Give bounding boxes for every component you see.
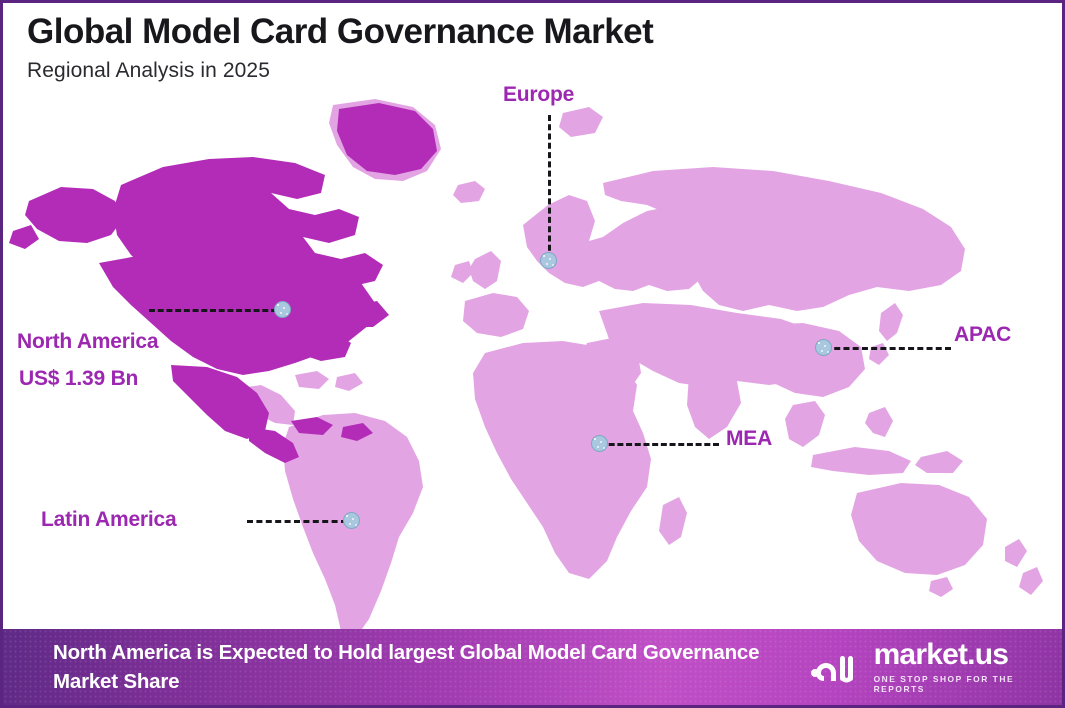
market-us-logo-icon bbox=[810, 650, 864, 684]
header: Global Model Card Governance Market Regi… bbox=[27, 11, 653, 83]
region-value-north-america: US$ 1.39 Bn bbox=[17, 367, 158, 391]
region-name-europe: Europe bbox=[503, 83, 574, 107]
map-marker-europe[interactable] bbox=[540, 252, 557, 269]
region-label-europe: Europe bbox=[503, 83, 574, 107]
map-marker-mea[interactable] bbox=[591, 435, 608, 452]
infographic-root: Global Model Card Governance Market Regi… bbox=[0, 0, 1065, 708]
brand-tagline: ONE STOP SHOP FOR THE REPORTS bbox=[874, 674, 1044, 694]
map-marker-apac[interactable] bbox=[815, 339, 832, 356]
banner-headline: North America is Expected to Hold larges… bbox=[53, 638, 810, 696]
leader-line-mea bbox=[600, 443, 719, 446]
region-label-latin-america: Latin America bbox=[41, 508, 177, 532]
region-name-north-america: North America bbox=[17, 330, 158, 354]
page-title: Global Model Card Governance Market bbox=[27, 11, 653, 54]
leader-line-apac bbox=[825, 347, 951, 350]
region-label-apac: APAC bbox=[954, 323, 1011, 347]
brand-logo[interactable]: market.us ONE STOP SHOP FOR THE REPORTS bbox=[810, 640, 1044, 694]
world-map bbox=[3, 75, 1062, 635]
leader-line-europe bbox=[548, 115, 551, 260]
map-marker-latin-america[interactable] bbox=[343, 512, 360, 529]
map-marker-north-america[interactable] bbox=[274, 301, 291, 318]
brand-name: market.us bbox=[874, 640, 1044, 670]
region-name-latin-america: Latin America bbox=[41, 508, 177, 532]
bottom-banner: North America is Expected to Hold larges… bbox=[3, 629, 1062, 705]
leader-line-latin-america bbox=[247, 520, 347, 523]
leader-line-north-america bbox=[149, 309, 277, 312]
page-subtitle: Regional Analysis in 2025 bbox=[27, 59, 653, 83]
world-map-svg bbox=[3, 75, 1062, 635]
region-label-mea: MEA bbox=[726, 427, 772, 451]
region-name-mea: MEA bbox=[726, 427, 772, 451]
region-name-apac: APAC bbox=[954, 323, 1011, 347]
brand-text-block: market.us ONE STOP SHOP FOR THE REPORTS bbox=[874, 640, 1044, 694]
map-highlight-north-america bbox=[9, 103, 437, 463]
region-label-north-america: North America US$ 1.39 Bn bbox=[17, 330, 158, 391]
